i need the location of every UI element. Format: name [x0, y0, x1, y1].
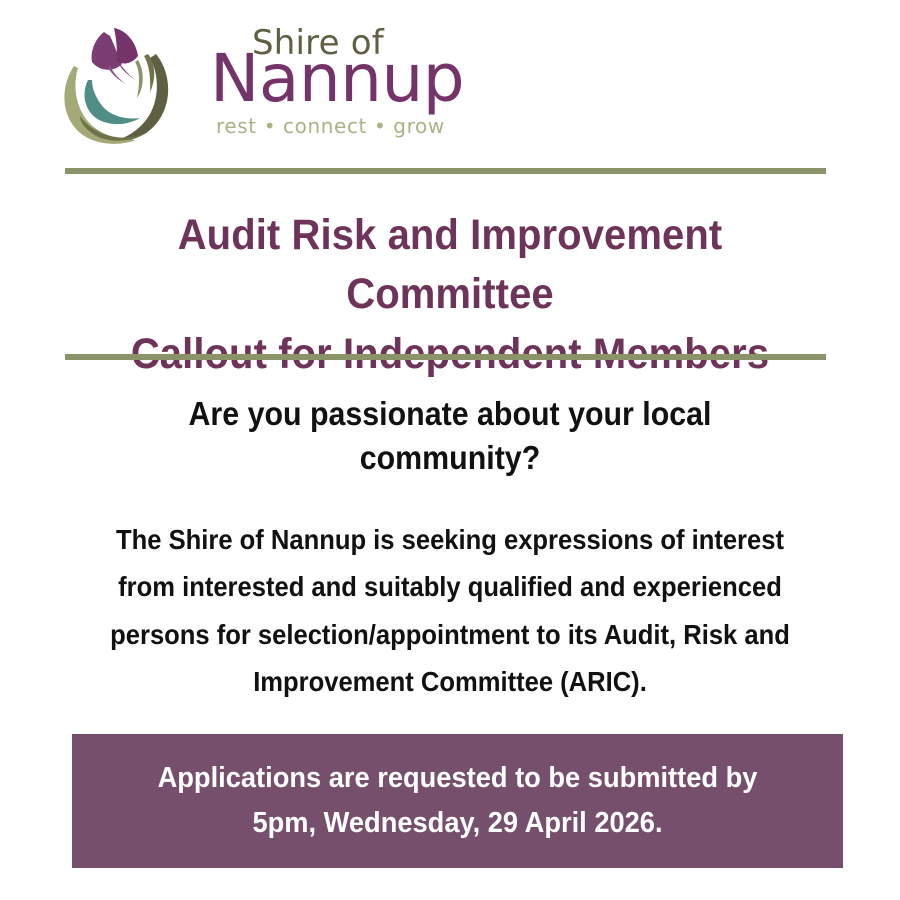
body-line-3: persons for selection/appointment to its… [87, 611, 812, 658]
shire-of-nannup-logo: Shire of Nannup rest • connect • grow [52, 16, 452, 154]
body-line-1: The Shire of Nannup is seeking expressio… [87, 516, 812, 563]
deadline-banner: Applications are requested to be submitt… [72, 734, 843, 868]
subheading-line-1: Are you passionate about your local [91, 392, 809, 436]
subheading: Are you passionate about your local comm… [91, 392, 809, 479]
divider-rule-top [65, 168, 826, 174]
body-line-4: Improvement Committee (ARIC). [87, 658, 812, 705]
body-paragraph: The Shire of Nannup is seeking expressio… [87, 516, 812, 705]
page-title-line-1: Audit Risk and Improvement Committee [87, 206, 812, 325]
poster-canvas: Shire of Nannup rest • connect • grow Au… [0, 0, 900, 900]
nannup-logo-mark-icon [52, 20, 180, 150]
logo-tagline: rest • connect • grow [216, 116, 445, 136]
deadline-banner-text: Applications are requested to be submitt… [95, 756, 820, 846]
body-line-2: from interested and suitably qualified a… [87, 563, 812, 610]
deadline-line-2: 5pm, Wednesday, 29 April 2026. [95, 801, 820, 846]
deadline-line-1: Applications are requested to be submitt… [95, 756, 820, 801]
logo-wordmark: Shire of Nannup rest • connect • grow [164, 16, 454, 152]
logo-word-nannup: Nannup [210, 46, 464, 112]
divider-rule-bottom [65, 354, 826, 360]
subheading-line-2: community? [91, 436, 809, 480]
